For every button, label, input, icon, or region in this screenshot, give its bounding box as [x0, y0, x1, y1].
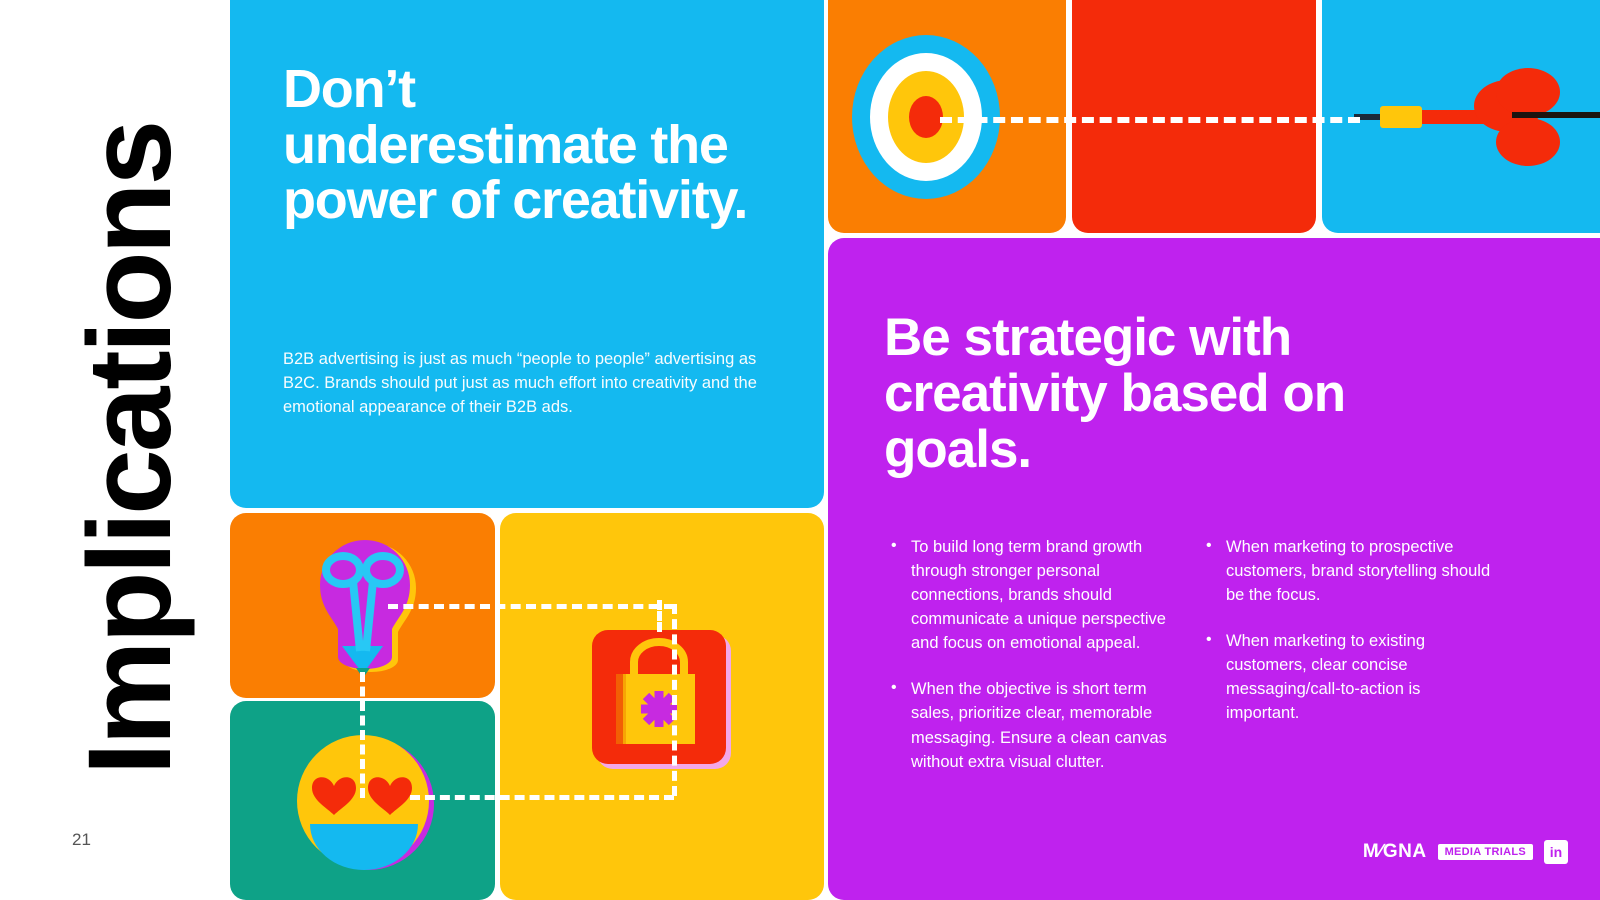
strategy-headline: Be strategic with creativity based on go…	[884, 310, 1504, 479]
strategy-bullets-left: To build long term brand growth through …	[883, 535, 1183, 796]
shopping-bag-icon	[500, 513, 824, 900]
dart-panel	[1322, 0, 1600, 233]
connector-bulb-down	[360, 672, 365, 798]
creativity-body-text: B2B advertising is just as much “people …	[283, 348, 783, 420]
creativity-headline: Don’t underestimate the power of creativ…	[283, 62, 773, 229]
connector-bag-vertical	[672, 604, 677, 796]
dart-icon	[1322, 0, 1600, 233]
media-trials-badge: MEDIA TRIALS	[1438, 844, 1533, 860]
page-number: 21	[72, 830, 91, 850]
list-item: To build long term brand growth through …	[883, 535, 1183, 655]
list-item: When marketing to existing customers, cl…	[1198, 629, 1498, 725]
creativity-panel: Don’t underestimate the power of creativ…	[230, 0, 824, 508]
bag-panel	[500, 513, 824, 900]
linkedin-icon[interactable]: in	[1544, 840, 1568, 864]
footer-logos: M∕GNA MEDIA TRIALS in	[1363, 840, 1568, 864]
list-item: When the objective is short term sales, …	[883, 677, 1183, 773]
connector-bulb-right	[388, 604, 674, 609]
connector-smiley-right	[410, 795, 674, 800]
page-title: Implications	[71, 49, 189, 849]
connector-bag-top	[657, 600, 662, 632]
magna-logo: M∕GNA	[1363, 841, 1427, 863]
strategy-bullets-right: When marketing to prospective customers,…	[1198, 535, 1498, 748]
slide-canvas: Implications 21 Don’t underestimate the …	[0, 0, 1600, 900]
strategy-panel: Be strategic with creativity based on go…	[828, 238, 1600, 900]
dart-trajectory-line	[940, 117, 1360, 123]
list-item: When marketing to prospective customers,…	[1198, 535, 1498, 607]
